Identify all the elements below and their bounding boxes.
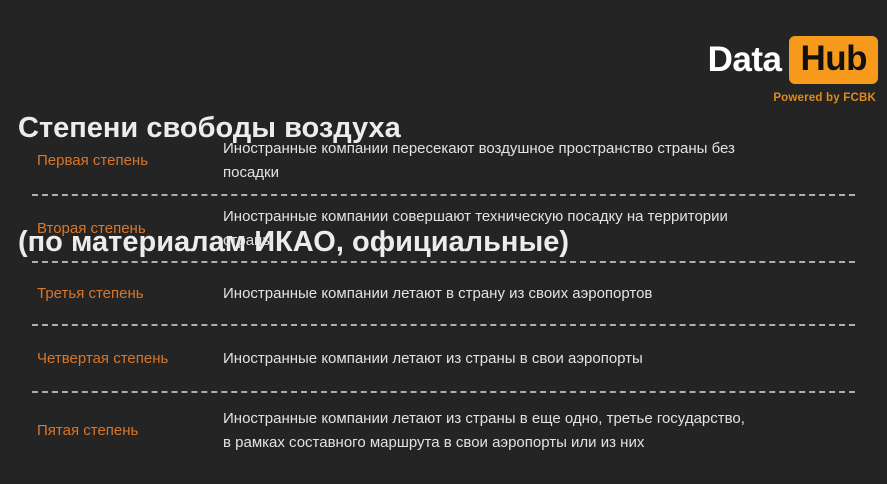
row-label: Вторая степень	[37, 219, 223, 239]
row-description-line-1: Иностранные компании летают из страны в …	[223, 407, 857, 431]
row-label: Первая степень	[37, 151, 223, 171]
table-row: Третья степень Иностранные компании лета…	[0, 264, 887, 324]
slide-header: Степени свободы воздуха (по материалам И…	[0, 0, 887, 128]
row-description: Иностранные компании летают из страны в …	[223, 347, 857, 371]
logo-hub-badge: Hub	[789, 36, 878, 84]
row-label: Четвертая степень	[37, 349, 223, 369]
row-description-line-1: Иностранные компании летают из страны в …	[223, 347, 857, 371]
row-description: Иностранные компании летают из страны в …	[223, 407, 857, 455]
row-description: Иностранные компании совершают техническ…	[223, 205, 857, 253]
table-row: Вторая степень Иностранные компании сове…	[0, 197, 887, 261]
row-description-line-2: страны	[223, 229, 857, 253]
row-description-line-1: Иностранные компании совершают техническ…	[223, 205, 857, 229]
row-description-line-1: Иностранные компании летают в страну из …	[223, 282, 857, 306]
table-row: Пятая степень Иностранные компании летаю…	[0, 394, 887, 468]
slide-root: Степени свободы воздуха (по материалам И…	[0, 0, 887, 484]
row-description: Иностранные компании пересекают воздушно…	[223, 137, 857, 185]
logo-data-text: Data	[708, 40, 782, 80]
row-label: Пятая степень	[37, 421, 223, 441]
row-description: Иностранные компании летают в страну из …	[223, 282, 857, 306]
logo-tagline: Powered by FCBK	[773, 92, 876, 104]
datahub-logo: Data Hub Powered by FCBK	[688, 36, 878, 116]
row-label: Третья степень	[37, 284, 223, 304]
row-description-line-1: Иностранные компании пересекают воздушно…	[223, 137, 857, 161]
freedoms-table: Первая степень Иностранные компании пере…	[0, 128, 887, 468]
logo-wordmark: Data Hub	[688, 36, 878, 84]
row-description-line-2: посадки	[223, 161, 857, 185]
table-row: Четвертая степень Иностранные компании л…	[0, 327, 887, 391]
table-row: Первая степень Иностранные компании пере…	[0, 128, 887, 194]
row-description-line-2: в рамках составного маршрута в свои аэро…	[223, 431, 857, 455]
